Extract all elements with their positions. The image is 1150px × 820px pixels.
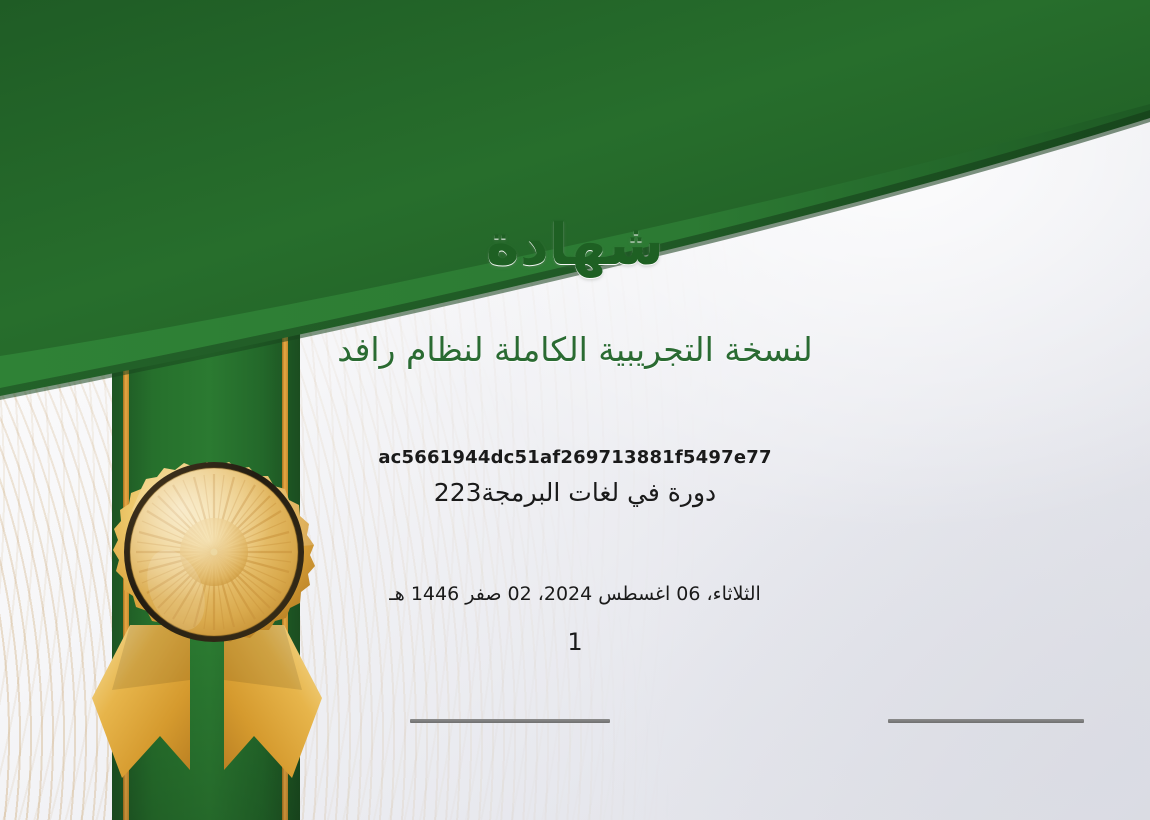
signature-line-right (888, 719, 1084, 723)
verification-hash: ac5661944dc51af269713881f5497e77 (0, 447, 1150, 468)
signature-line-left (410, 719, 610, 723)
certificate-page: شهادة لنسخة التجريبية الكاملة لنظام رافد… (0, 0, 1150, 820)
course-name: دورة في لغات البرمجة223 (0, 478, 1150, 507)
certificate-subtitle: لنسخة التجريبية الكاملة لنظام رافد (0, 330, 1150, 369)
certificate-title: شهادة (0, 212, 1150, 278)
certificate-count: 1 (0, 628, 1150, 656)
issue-date: الثلاثاء، 06 اغسطس 2024، 02 صفر 1446 هـ (0, 583, 1150, 605)
